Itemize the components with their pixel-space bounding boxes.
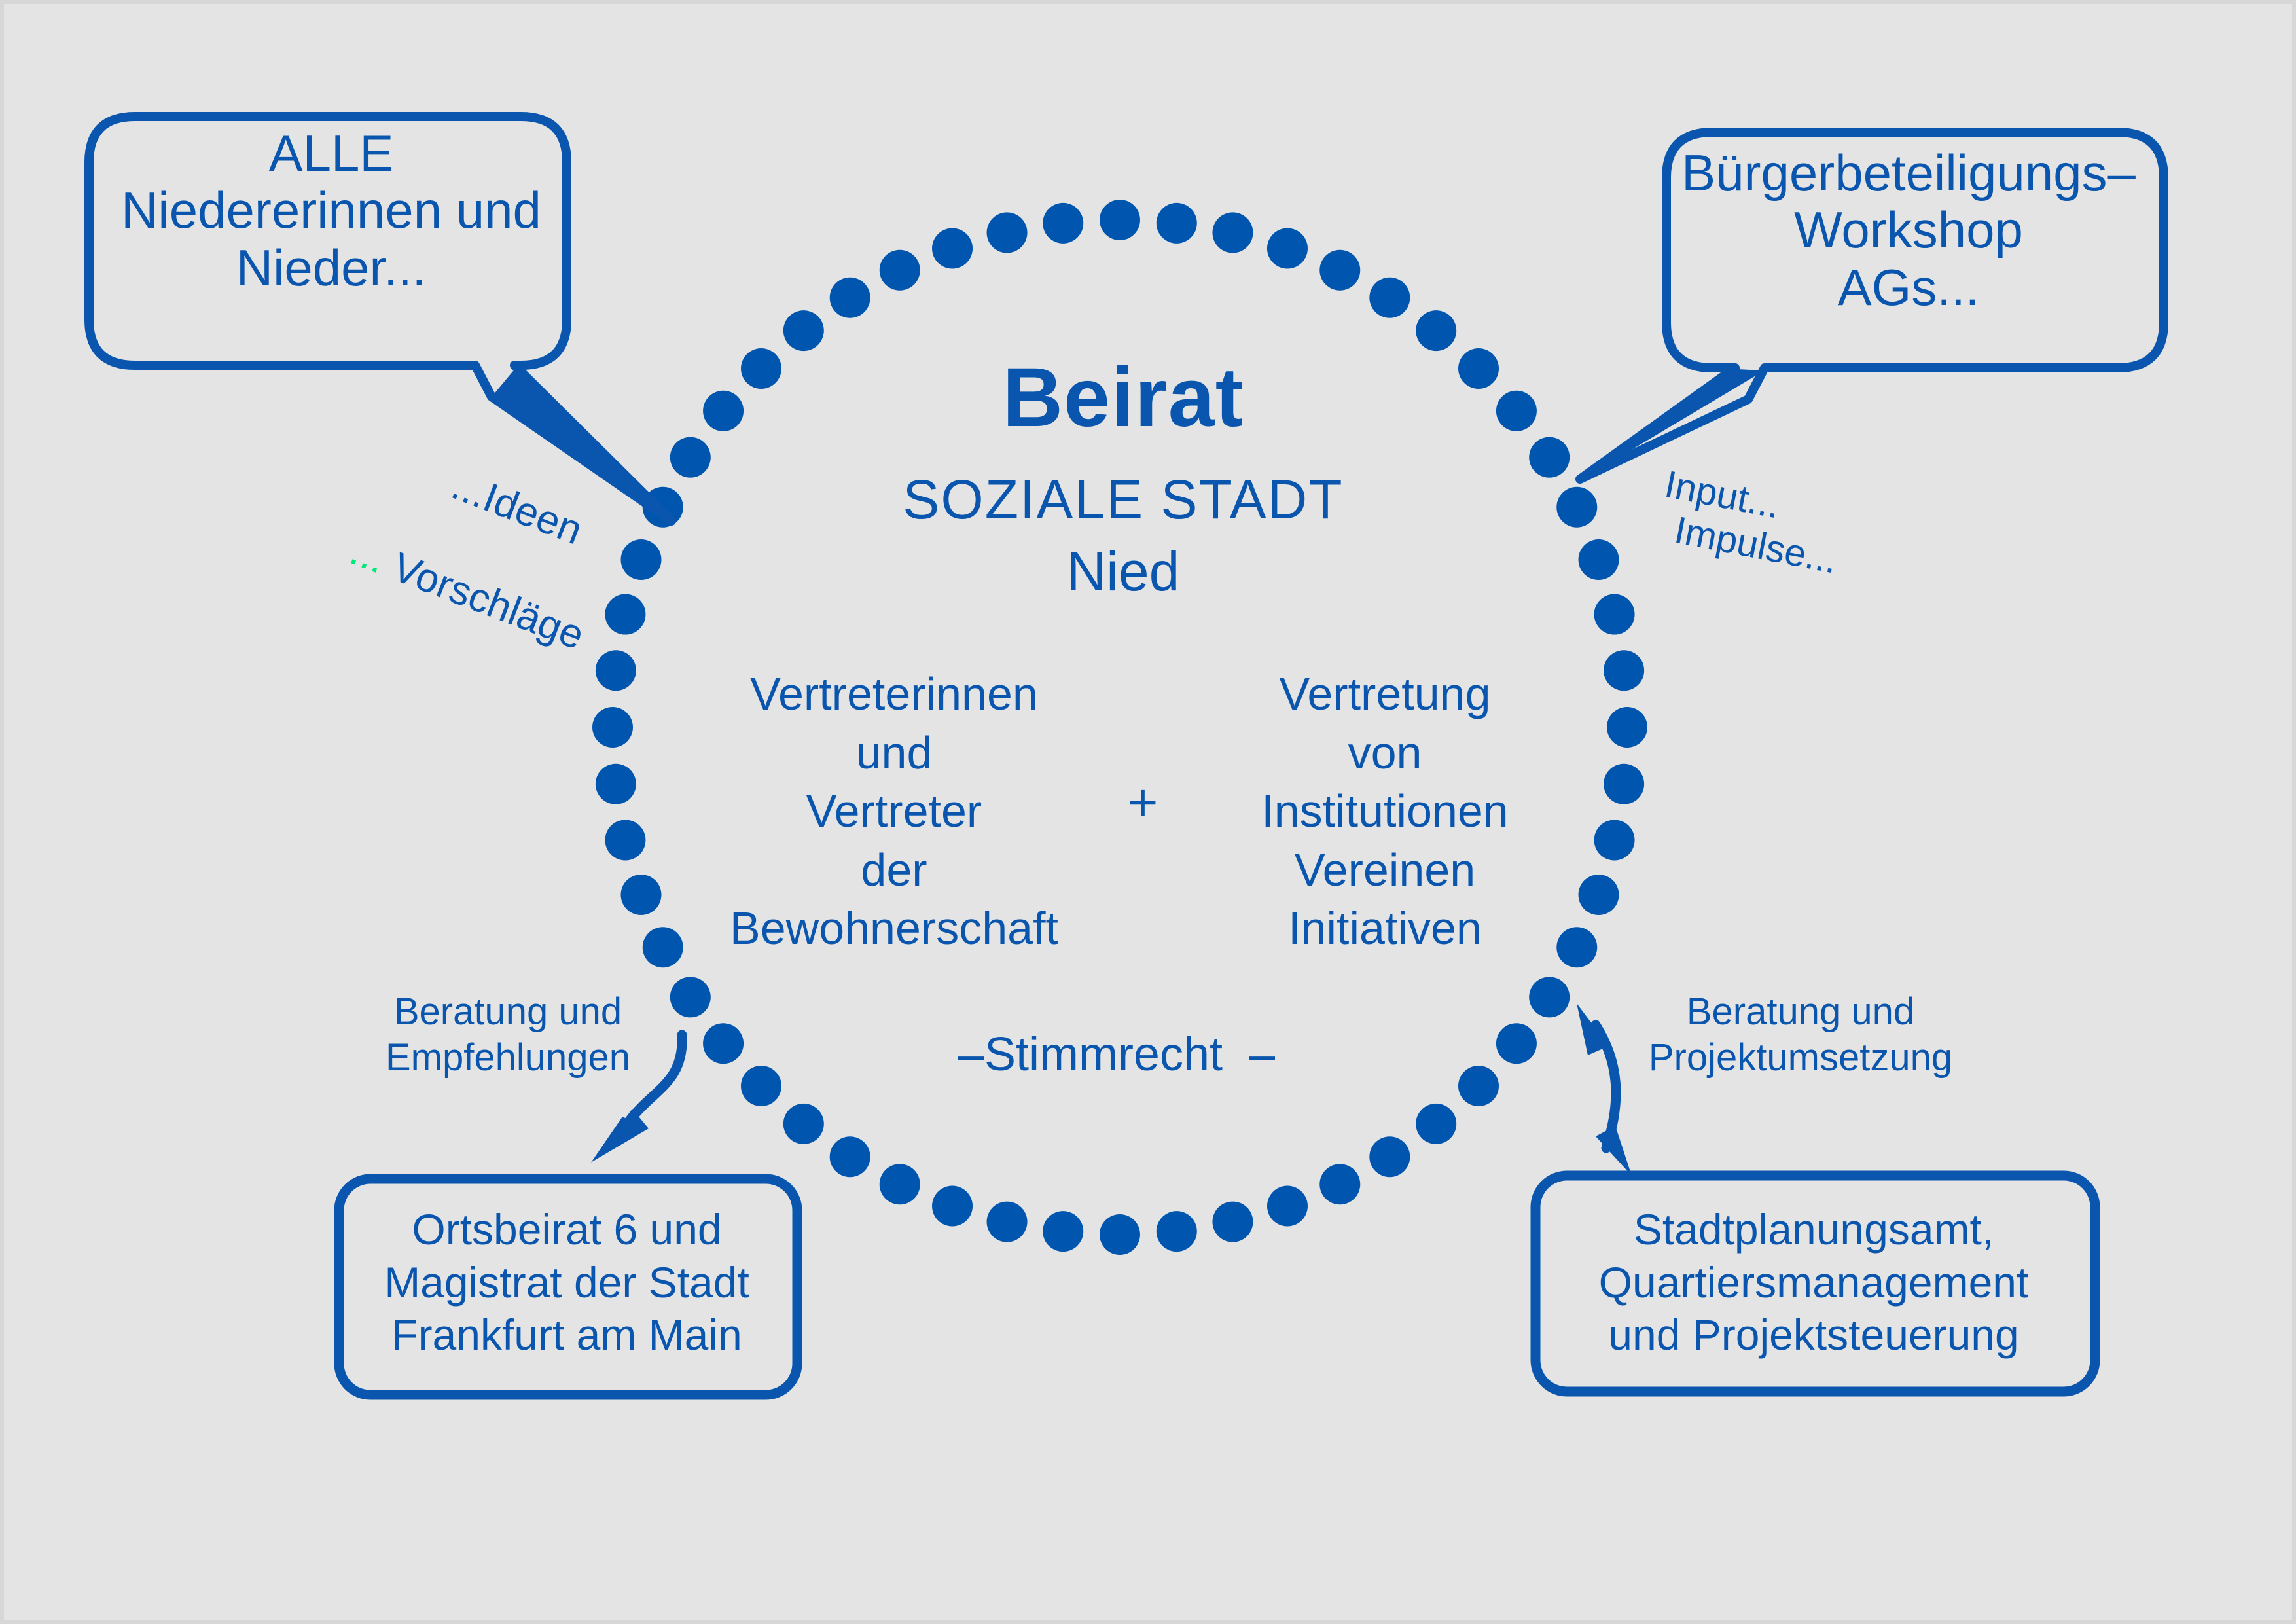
- circle-dot: [1043, 203, 1083, 244]
- circle-dot: [1157, 203, 1197, 244]
- circle-dot: [1267, 228, 1308, 268]
- circle-dot: [1100, 200, 1140, 240]
- circle-dot: [703, 391, 744, 431]
- circle-dot: [932, 1186, 973, 1227]
- voting-right-note: –Stimmrecht –: [888, 1028, 1346, 1081]
- circle-dot: [830, 278, 870, 318]
- circle-dot: [1604, 650, 1644, 691]
- circle-dot: [1529, 977, 1570, 1017]
- circle-dot: [643, 927, 683, 967]
- circle-dot: [987, 212, 1028, 253]
- label-beratung-empfehlungen: Beratung und Empfehlungen: [357, 989, 658, 1080]
- circle-dot: [1416, 310, 1456, 351]
- circle-dot: [1100, 1214, 1140, 1255]
- circle-dot: [703, 1023, 744, 1064]
- circle-dot: [596, 650, 636, 691]
- label-beratung-projektumsetzung: Beratung und Projektumsetzung: [1630, 989, 1971, 1080]
- diagram-canvas: ALLE Niedererinnen und Nieder... Bürgerb…: [0, 0, 2296, 1624]
- arrow-right-double: [1577, 1003, 1632, 1176]
- center-location: Nied: [770, 541, 1477, 602]
- circle-dot: [1458, 1066, 1499, 1106]
- bubble-top-right-text: Bürgerbeteiligungs– Workshop AGs...: [1670, 145, 2147, 316]
- circle-dot: [1594, 820, 1635, 860]
- circle-dot: [592, 707, 633, 748]
- circle-dot: [1043, 1211, 1083, 1252]
- center-title: Beirat: [770, 351, 1477, 444]
- circle-dot: [1212, 1202, 1253, 1242]
- center-subtitle: SOZIALE STADT: [770, 469, 1477, 530]
- circle-dot: [783, 1104, 824, 1144]
- circle-dot: [1607, 707, 1647, 748]
- circle-dot: [1416, 1104, 1456, 1144]
- circle-dot: [1604, 764, 1644, 804]
- circle-dot: [1496, 391, 1537, 431]
- circle-dot: [620, 539, 661, 580]
- circle-dot: [605, 820, 645, 860]
- circle-dot: [880, 1164, 920, 1204]
- circle-dot: [1579, 539, 1619, 580]
- circle-dot: [1496, 1023, 1537, 1064]
- center-right-column: Vertretung von Institutionen Vereinen In…: [1175, 665, 1594, 958]
- circle-dot: [1369, 1136, 1410, 1177]
- circle-dot: [932, 228, 973, 268]
- circle-dot: [830, 1136, 870, 1177]
- box-bottom-left-text: Ortsbeirat 6 und Magistrat der Stadt Fra…: [338, 1203, 796, 1362]
- circle-dot: [1369, 278, 1410, 318]
- circle-dot: [1319, 250, 1360, 291]
- circle-dot: [1556, 487, 1597, 528]
- circle-dot: [620, 875, 661, 915]
- circle-dot: [670, 437, 711, 478]
- bubble-top-left-text: ALLE Niedererinnen und Nieder...: [89, 125, 573, 297]
- circle-dot: [1157, 1211, 1197, 1252]
- circle-dot: [987, 1202, 1028, 1242]
- center-left-column: Vertreterinnen und Vertreter der Bewohne…: [685, 665, 1103, 958]
- circle-dot: [596, 764, 636, 804]
- circle-dot: [605, 594, 645, 635]
- circle-dot: [880, 250, 920, 291]
- circle-dot: [1529, 437, 1570, 478]
- box-bottom-right-text: Stadtplanungsamt, Quartiersmanagement un…: [1535, 1203, 2092, 1362]
- circle-dot: [783, 310, 824, 351]
- circle-dot: [670, 977, 711, 1017]
- circle-dot: [1267, 1186, 1308, 1227]
- circle-dot: [1212, 212, 1253, 253]
- circle-dot: [741, 1066, 781, 1106]
- circle-dot: [1319, 1164, 1360, 1204]
- circle-dot: [1594, 594, 1635, 635]
